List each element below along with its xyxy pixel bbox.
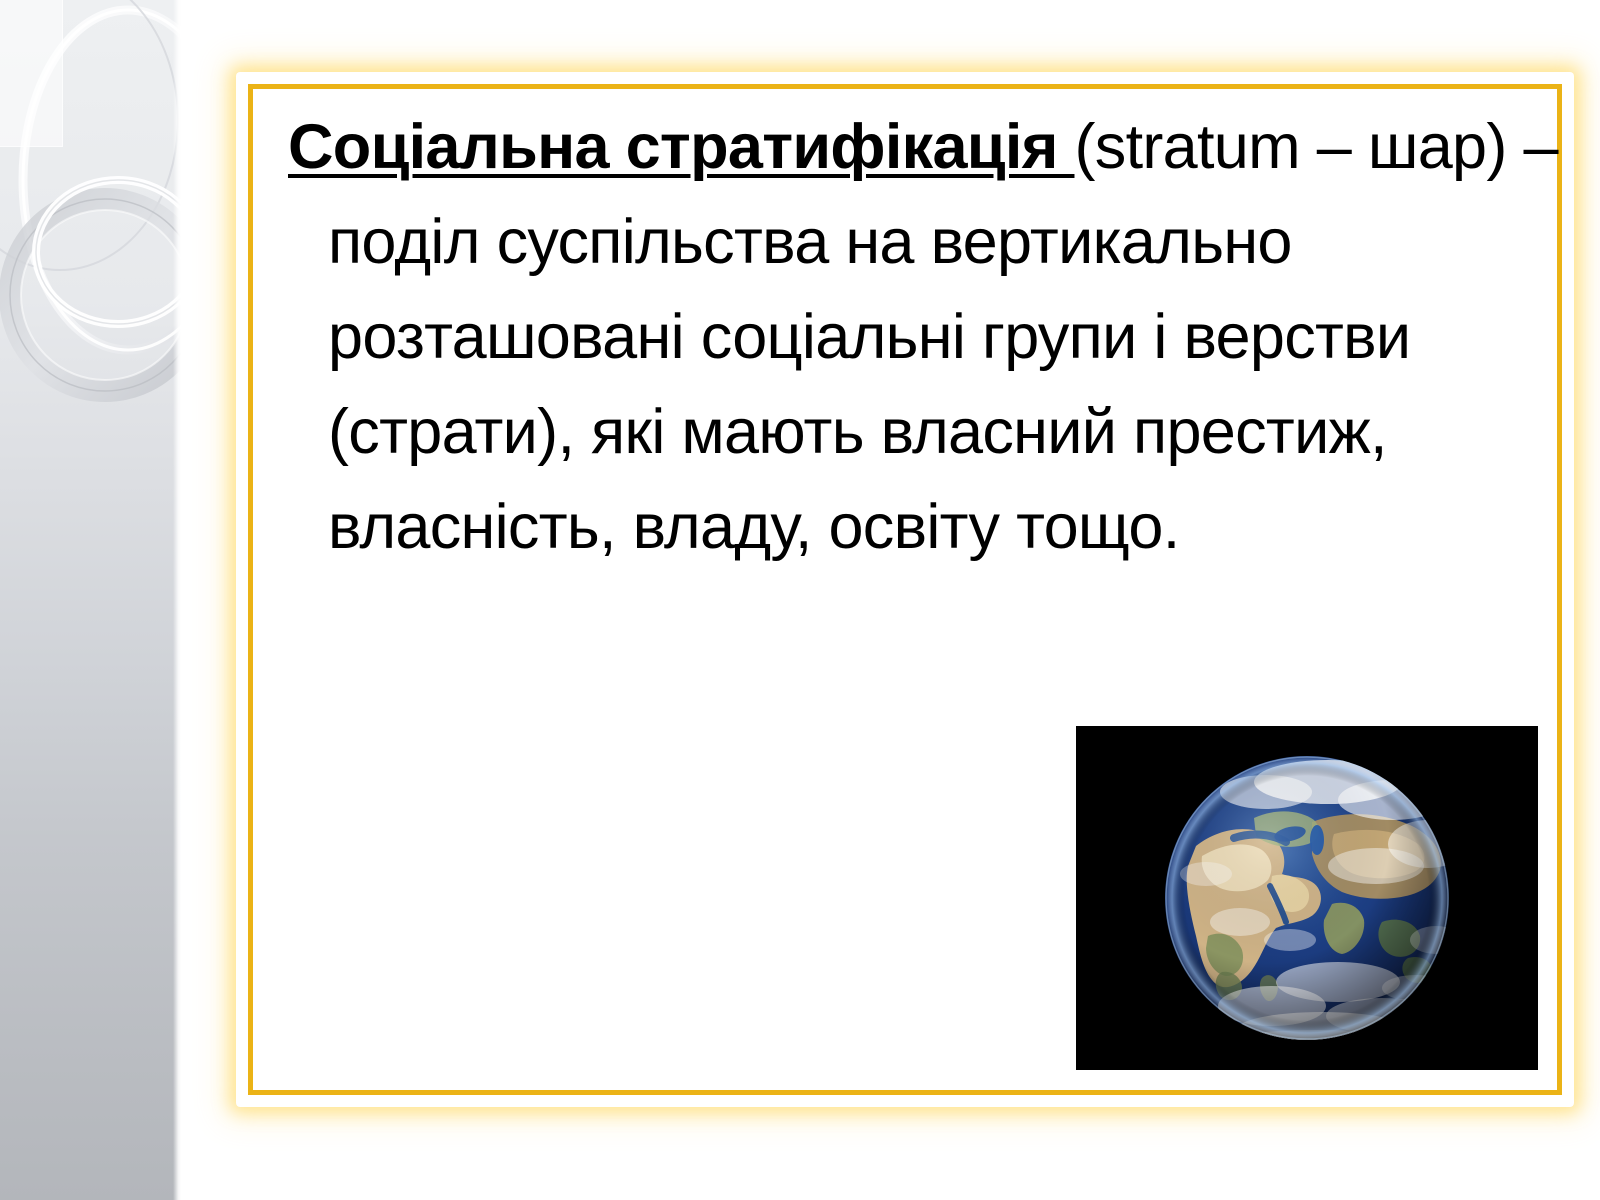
earth-globe-illustration bbox=[1076, 726, 1538, 1070]
sidebar-rings-graphic bbox=[0, 0, 181, 1200]
definition-text-block: Соціальна стратифікація (stratum – шар) … bbox=[288, 100, 1578, 575]
slide-canvas: Соціальна стратифікація (stratum – шар) … bbox=[0, 0, 1600, 1200]
sidebar-edge-highlight bbox=[173, 0, 181, 1200]
earth-from-space-photo bbox=[1076, 726, 1538, 1070]
definition-paragraph: Соціальна стратифікація (stratum – шар) … bbox=[328, 100, 1578, 575]
definition-term: Соціальна стратифікація bbox=[288, 112, 1074, 182]
sidebar-corner-block bbox=[0, 0, 63, 147]
decorative-sidebar bbox=[0, 0, 181, 1200]
